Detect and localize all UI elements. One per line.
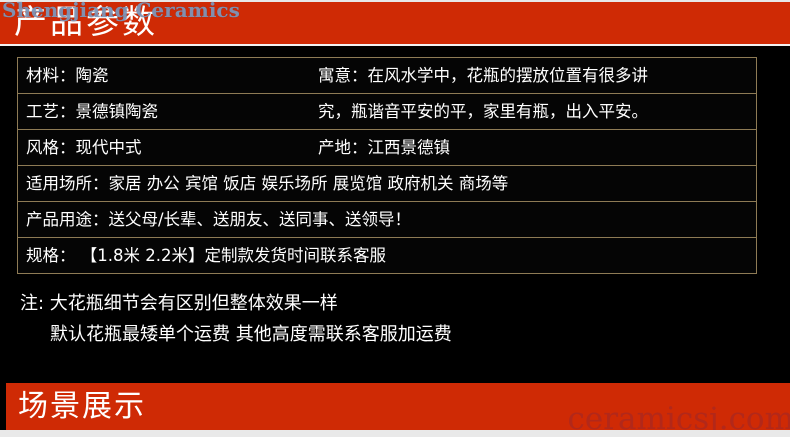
table-row: 产品用途：送父母/长辈、送朋友、送同事、送领导！ [18,202,756,238]
note-line-2: 默认花瓶最矮单个运费 其他高度需联系客服加运费 [20,319,760,350]
spec-table: 材料：陶瓷 寓意：在风水学中，花瓶的摆放位置有很多讲 工艺：景德镇陶瓷 究，瓶谐… [17,57,757,274]
spec-material-label: 材料：陶瓷 [26,66,109,86]
table-row: 规格： 【1.8米 2.2米】定制款发货时间联系客服 [18,238,756,274]
bottom-banner-title: 场景展示 [18,386,146,428]
footer-strip [0,430,790,437]
spec-venues-label: 适用场所：家居 办公 宾馆 饭店 娱乐场所 展览馆 政府机关 商场等 [26,174,508,194]
spec-meaning-line2: 究，瓶谐音平安的平，家里有瓶，出入平安。 [318,102,648,122]
spec-origin-label: 产地：江西景德镇 [318,138,450,158]
spec-size-label: 规格： 【1.8米 2.2米】定制款发货时间联系客服 [26,246,386,266]
site-watermark: ceramicsj.com [568,402,790,430]
bottom-banner: 场景展示 ceramicsj.com [6,383,790,430]
spec-usage-label: 产品用途：送父母/长辈、送朋友、送同事、送领导！ [26,210,411,230]
table-row: 适用场所：家居 办公 宾馆 饭店 娱乐场所 展览馆 政府机关 商场等 [18,166,756,202]
brand-watermark: Shengjiang Ceramics [2,0,240,22]
table-row: 风格：现代中式 产地：江西景德镇 [18,130,756,166]
product-spec-page: 产品参数 Shengjiang Ceramics 材料：陶瓷 寓意：在风水学中，… [0,0,790,437]
table-row: 材料：陶瓷 寓意：在风水学中，花瓶的摆放位置有很多讲 [18,58,756,94]
spec-craft-label: 工艺：景德镇陶瓷 [26,102,158,122]
spec-meaning-line1: 寓意：在风水学中，花瓶的摆放位置有很多讲 [318,66,648,86]
table-row: 工艺：景德镇陶瓷 究，瓶谐音平安的平，家里有瓶，出入平安。 [18,94,756,130]
note-line-1: 注: 大花瓶细节会有区别但整体效果一样 [20,288,760,319]
top-banner-underline [0,44,790,46]
spec-style-label: 风格：现代中式 [26,138,142,158]
notes-block: 注: 大花瓶细节会有区别但整体效果一样 默认花瓶最矮单个运费 其他高度需联系客服… [20,288,760,350]
